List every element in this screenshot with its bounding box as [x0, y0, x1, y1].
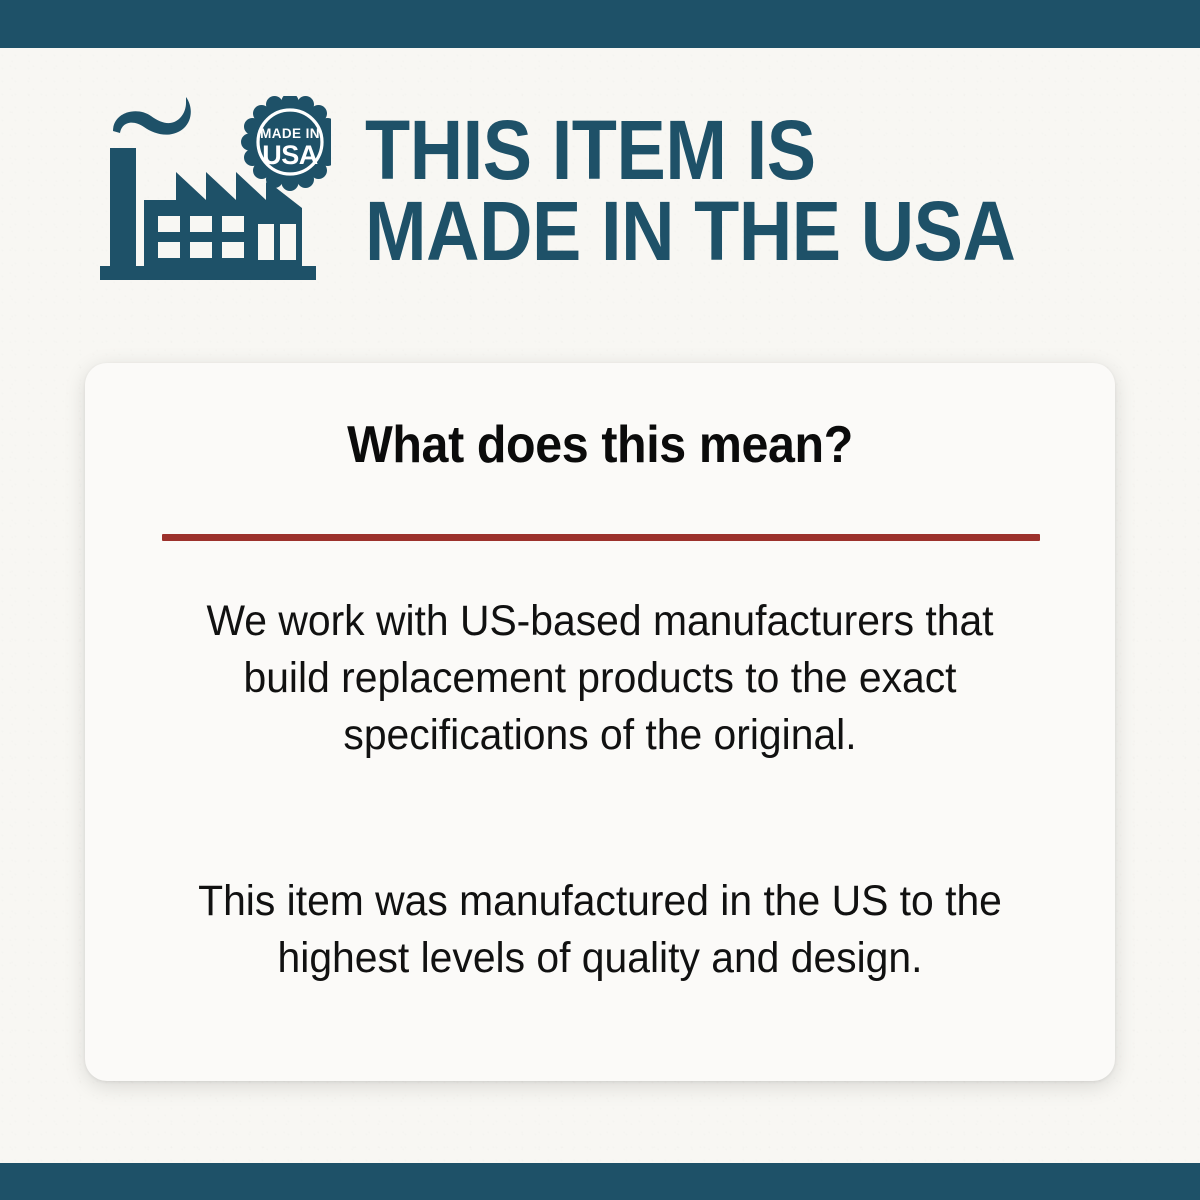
top-accent-band — [0, 0, 1200, 48]
headline-line-2: MADE IN THE USA — [365, 191, 1015, 272]
header-section: MADE IN USA THIS ITEM IS MADE IN THE USA — [0, 88, 1200, 293]
card-paragraph-2: This item was manufactured in the US to … — [170, 873, 1031, 987]
badge-line2: USA — [262, 140, 318, 170]
card-paragraph-1: We work with US-based manufacturers that… — [170, 593, 1031, 763]
page-title: THIS ITEM IS MADE IN THE USA — [365, 110, 1015, 271]
badge-line1: MADE IN — [260, 126, 320, 141]
headline-line-1: THIS ITEM IS — [365, 110, 1015, 191]
card-heading: What does this mean? — [121, 415, 1079, 475]
bottom-accent-band — [0, 1163, 1200, 1200]
info-card: What does this mean? We work with US-bas… — [85, 363, 1115, 1081]
factory-made-in-usa-icon: MADE IN USA — [96, 96, 331, 286]
made-in-usa-banner: MADE IN USA THIS ITEM IS MADE IN THE USA… — [0, 0, 1200, 1200]
heading-divider — [162, 534, 1040, 541]
